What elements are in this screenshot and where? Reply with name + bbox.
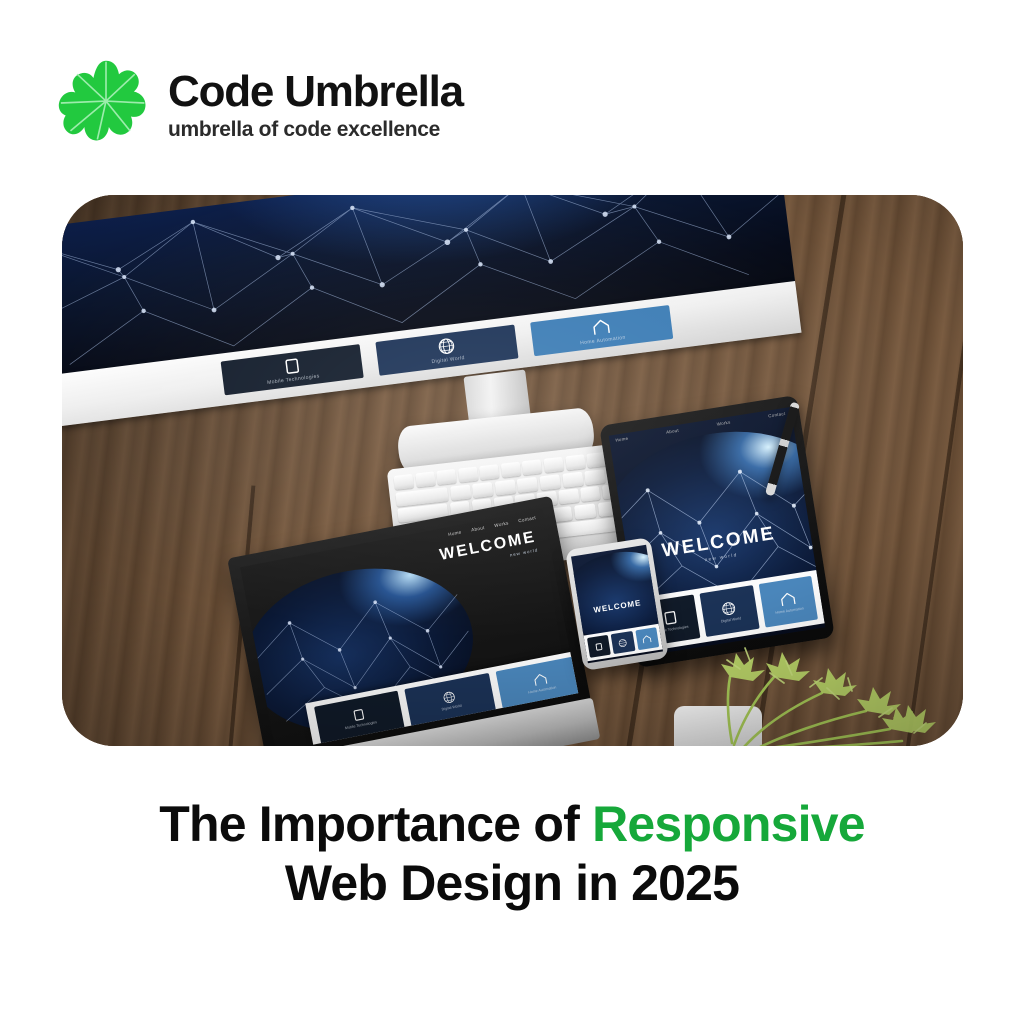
headline-accent-word: Responsive: [592, 796, 865, 852]
brand-header: Code Umbrella umbrella of code excellenc…: [58, 55, 463, 151]
brand-text-block: Code Umbrella umbrella of code excellenc…: [168, 66, 463, 140]
green-umbrella-icon: [58, 55, 154, 151]
headline-line-1: The Importance of Responsive: [0, 795, 1024, 854]
brand-name: Code Umbrella: [168, 70, 463, 114]
headline-prefix: The Importance of: [159, 796, 592, 852]
brand-tagline: umbrella of code excellence: [168, 119, 463, 140]
hero-photo: Mobile Technologies Digital World Home A…: [62, 195, 963, 746]
photo-vignette: [62, 195, 963, 746]
headline-line-2: Web Design in 2025: [0, 854, 1024, 913]
page-title: The Importance of Responsive Web Design …: [0, 795, 1024, 913]
